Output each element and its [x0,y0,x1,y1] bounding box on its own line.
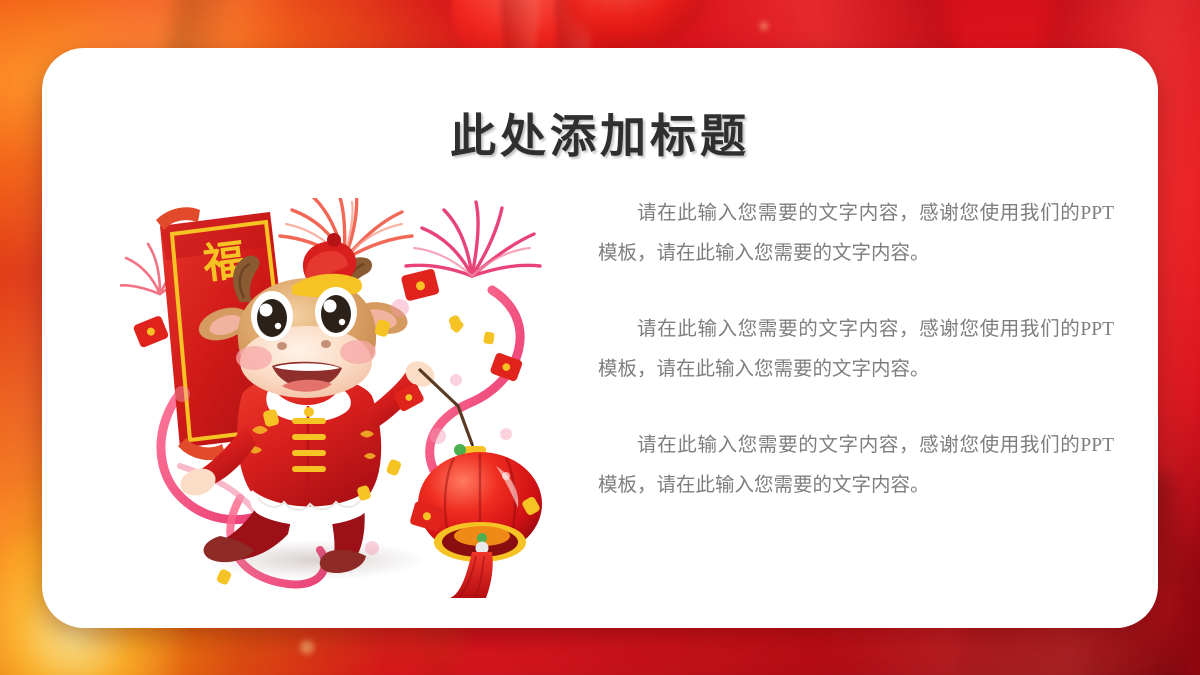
background-spark [300,640,314,654]
page-title: 此处添加标题 [42,100,1158,166]
body-paragraph: 请在此输入您需要的文字内容，感谢您使用我们的PPT模板，请在此输入您需要的文字内… [598,310,1114,390]
body-paragraph: 请在此输入您需要的文字内容，感谢您使用我们的PPT模板，请在此输入您需要的文字内… [598,194,1114,274]
content-card: 此处添加标题 [42,48,1158,628]
body-text-column: 请在此输入您需要的文字内容，感谢您使用我们的PPT模板，请在此输入您需要的文字内… [598,194,1114,506]
chinese-new-year-ox-illustration: 福 年 [120,198,580,598]
body-paragraph: 请在此输入您需要的文字内容，感谢您使用我们的PPT模板，请在此输入您需要的文字内… [598,426,1114,506]
background-spark [760,22,768,30]
